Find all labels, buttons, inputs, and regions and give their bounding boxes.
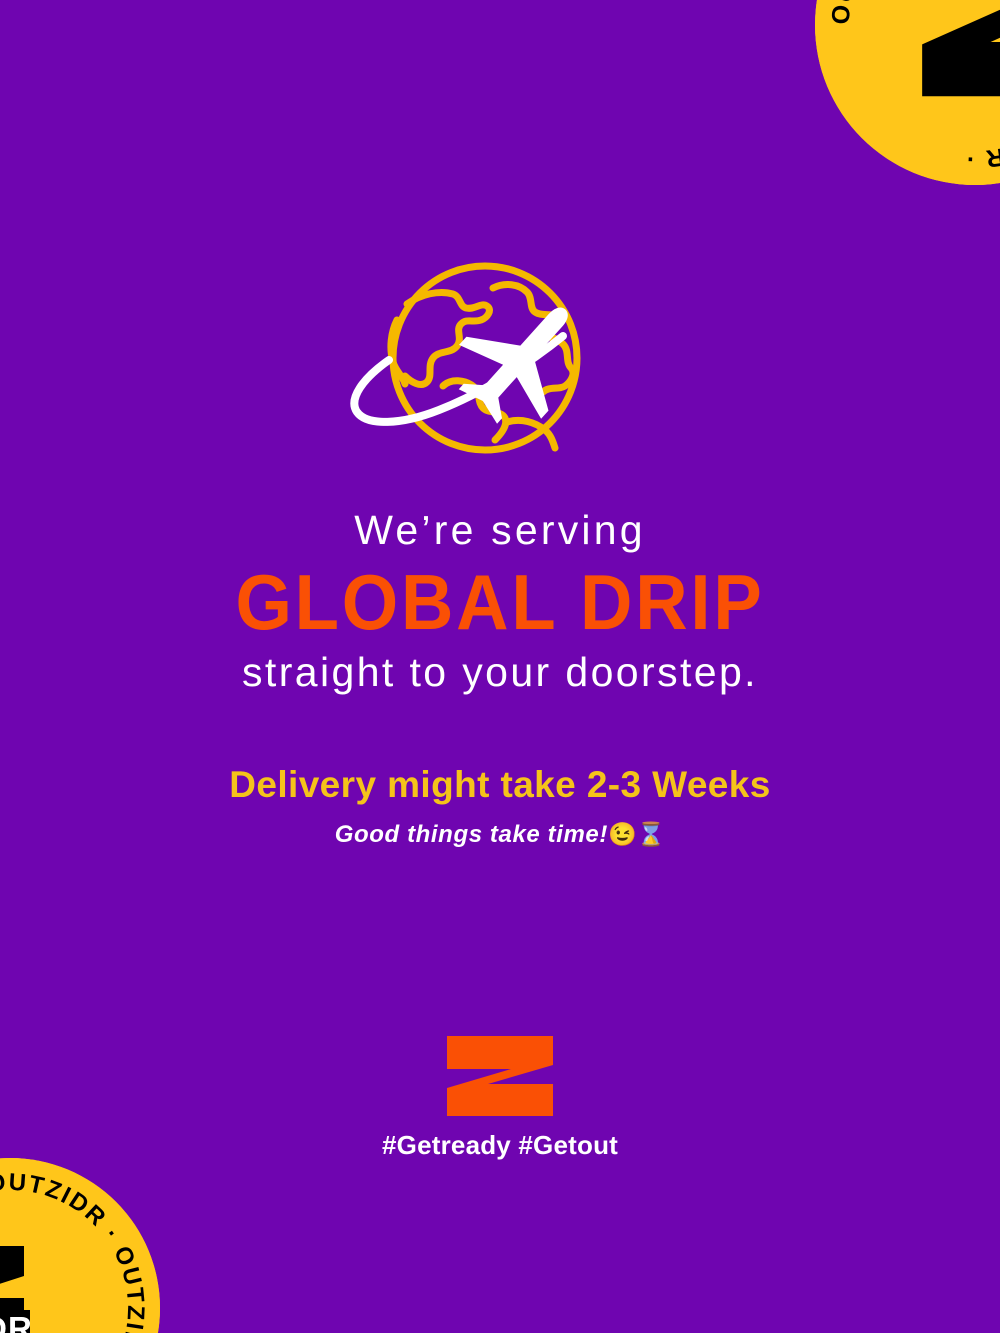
headline-post-line: straight to your doorstep. bbox=[0, 647, 1000, 697]
delivery-time-text: Delivery might take 2-3 Weeks bbox=[0, 762, 1000, 808]
outzidr-z-logo bbox=[447, 1036, 553, 1116]
brand-seal-badge-bottom-left: OUTZIDR · OUTZIDR · OUTZIDR · OUTZIDR · … bbox=[0, 1158, 160, 1333]
headline-main-line: GLOBAL DRIP bbox=[35, 562, 965, 643]
badge-wordmark-text: OUTZIDR bbox=[0, 1310, 33, 1333]
wink-hourglass-emoji: 😉⌛ bbox=[608, 821, 665, 847]
brand-seal-badge-top-right: OUTZIDR · OUTZIDR · OUTZIDR · OUTZIDR · bbox=[815, 0, 1000, 185]
badge-wordmark: OUTZIDR bbox=[0, 1310, 33, 1333]
poster-canvas: OUTZIDR · OUTZIDR · OUTZIDR · OUTZIDR · bbox=[0, 0, 1000, 1333]
delivery-subtext-label: Good things take time! bbox=[335, 821, 608, 848]
headline-pre-line: We’re serving bbox=[0, 505, 1000, 555]
headline-block: We’re serving GLOBAL DRIP straight to yo… bbox=[0, 505, 1000, 697]
globe-with-airplane-icon bbox=[335, 258, 665, 473]
footer-brand-block: #Getready #Getout bbox=[0, 1036, 1000, 1161]
delivery-notice-block: Delivery might take 2-3 Weeks Good thing… bbox=[0, 762, 1000, 849]
brand-tagline: #Getready #Getout bbox=[0, 1130, 1000, 1161]
delivery-subtext: Good things take time!😉⌛ bbox=[0, 821, 1000, 849]
